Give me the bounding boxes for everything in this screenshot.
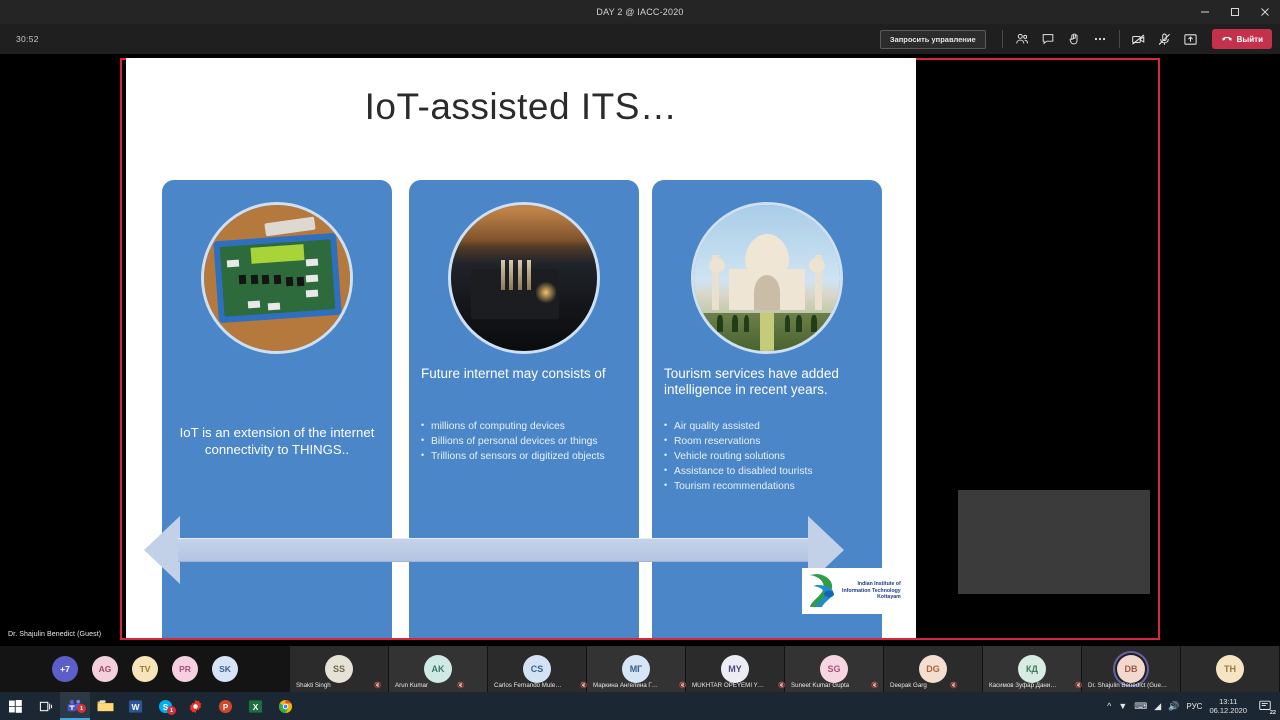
svg-text:P: P	[222, 702, 228, 711]
system-tray: ^ ▼ ⌨ ◢ 🔊 РУС 13:11 06.12.2020 22	[1107, 695, 1280, 717]
institute-logo-line3: Kottayam	[842, 594, 901, 601]
meeting-stage: Dr. Shajulin Benedict (Guest) IoT-assist…	[0, 54, 1280, 646]
institute-logo-line2: Information Technology	[842, 588, 901, 595]
avatar: SG	[820, 655, 848, 683]
window-titlebar: DAY 2 @ IACC-2020	[0, 0, 1280, 24]
leave-call-button[interactable]: Выйти	[1212, 29, 1272, 49]
presenter-name-label: Dr. Shajulin Benedict (Guest)	[8, 631, 101, 638]
screen-root: DAY 2 @ IACC-2020 30:52 Запросить управл…	[0, 0, 1280, 720]
avatar[interactable]: SK	[212, 656, 238, 682]
close-icon[interactable]	[1250, 0, 1280, 24]
taskbar-skype[interactable]: S 1	[150, 692, 180, 720]
bullet-item: Vehicle routing solutions	[664, 450, 874, 464]
participant-name: MUKHTAR OPEYEMI Y…	[692, 682, 764, 689]
skype-badge: 1	[167, 706, 176, 715]
mic-off-icon: 🔇	[457, 682, 464, 689]
taskbar-excel[interactable]: X	[240, 692, 270, 720]
taskbar-teams[interactable]: 1	[60, 692, 90, 720]
keyboard-icon[interactable]: ⌨	[1134, 701, 1147, 712]
bullet-item: millions of computing devices	[421, 420, 631, 434]
participant-name: Carlos Fernando Mule…	[494, 682, 561, 689]
task-view-button[interactable]	[30, 692, 60, 720]
webcam-overlay[interactable]	[958, 490, 1150, 594]
participants-filmstrip: +7 AG TV PR SK SS Shakti Singh 🔇 AK Arun…	[0, 646, 1280, 692]
participant-name: Suneet Kumar Gupta	[791, 682, 849, 689]
slide-title: IoT-assisted ITS…	[126, 86, 916, 128]
maximize-icon[interactable]	[1220, 0, 1250, 24]
arrow-bar	[178, 538, 810, 562]
clock-date: 06.12.2020	[1209, 706, 1247, 715]
participant-tile[interactable]: AK Arun Kumar 🔇	[389, 646, 488, 692]
bullet-item: Billions of personal devices or things	[421, 435, 631, 449]
avatar: МГ	[622, 655, 650, 683]
request-control-button[interactable]: Запросить управление	[880, 30, 986, 49]
participant-tile[interactable]: КД Касимов Зуфар Дани… 🔇	[983, 646, 1082, 692]
window-controls	[1190, 0, 1280, 24]
participant-tile[interactable]: SS Shakti Singh 🔇	[290, 646, 389, 692]
participant-tile[interactable]: SG Suneet Kumar Gupta 🔇	[785, 646, 884, 692]
meeting-toolbar: 30:52 Запросить управление	[0, 24, 1280, 54]
avatar: DG	[919, 655, 947, 683]
avatar[interactable]: +7	[52, 656, 78, 682]
participant-tile[interactable]: TH	[1181, 646, 1280, 692]
avatar: AK	[424, 655, 452, 683]
circuit-board-photo	[201, 202, 353, 354]
chat-icon[interactable]	[1035, 28, 1061, 50]
participant-name: Arun Kumar	[395, 682, 428, 689]
svg-text:X: X	[252, 702, 258, 712]
participant-tile[interactable]: MY MUKHTAR OPEYEMI Y… 🔇	[686, 646, 785, 692]
bullet-item: Room reservations	[664, 435, 874, 449]
language-indicator[interactable]: РУС	[1186, 702, 1202, 711]
avatar[interactable]: PR	[172, 656, 198, 682]
notification-count: 22	[1270, 710, 1276, 716]
slide-panel-3-bullets: Air quality assisted Room reservations V…	[664, 420, 874, 495]
camera-off-icon[interactable]	[1126, 28, 1152, 50]
action-center-icon[interactable]: 22	[1254, 695, 1276, 717]
toolbar-divider-2	[1119, 30, 1120, 48]
slide-panel-3-heading: Tourism services have added intelligence…	[664, 366, 872, 399]
people-icon[interactable]	[1009, 28, 1035, 50]
avatar: TH	[1216, 655, 1244, 683]
clock-time: 13:11	[1209, 697, 1247, 706]
taskbar-settings[interactable]	[180, 692, 210, 720]
avatar: DB	[1117, 655, 1145, 683]
avatar: SS	[325, 655, 353, 683]
share-screen-icon[interactable]	[1178, 28, 1204, 50]
show-hidden-icons-icon[interactable]: ^	[1107, 701, 1111, 711]
mic-off-icon: 🔇	[374, 682, 381, 689]
bullet-item: Assistance to disabled tourists	[664, 465, 874, 479]
clock[interactable]: 13:11 06.12.2020	[1209, 697, 1247, 716]
participant-name: Deepak Garg	[890, 682, 927, 689]
avatar: MY	[721, 655, 749, 683]
presentation-slide[interactable]: IoT-assisted ITS…	[126, 58, 916, 638]
double-arrow-graphic	[144, 516, 844, 584]
start-button[interactable]	[0, 692, 30, 720]
toolbar-divider-1	[1002, 30, 1003, 48]
avatar[interactable]: TV	[132, 656, 158, 682]
taskbar-file-explorer[interactable]	[90, 692, 120, 720]
participant-name: Касимов Зуфар Дани…	[989, 682, 1056, 689]
svg-text:W: W	[131, 702, 139, 712]
participant-tile[interactable]: CS Carlos Fernando Mule… 🔇	[488, 646, 587, 692]
participant-tile[interactable]: МГ Маркина Ангелина Г… 🔇	[587, 646, 686, 692]
bullet-item: Trillions of sensors or digitized object…	[421, 450, 631, 464]
raise-hand-icon[interactable]	[1061, 28, 1087, 50]
mic-off-icon: 🔇	[950, 682, 957, 689]
taskbar-word[interactable]: W	[120, 692, 150, 720]
overflow-avatar-group[interactable]: +7 AG TV PR SK	[0, 646, 290, 692]
institute-logo-text: Indian Institute of Information Technolo…	[842, 581, 901, 601]
mic-off-icon: 🔇	[871, 682, 878, 689]
slide-panel-1-text: IoT is an extension of the internet conn…	[176, 424, 378, 458]
more-options-icon[interactable]	[1087, 28, 1113, 50]
avatar: CS	[523, 655, 551, 683]
bullet-item: Air quality assisted	[664, 420, 874, 434]
slide-panel-2-bullets: millions of computing devices Billions o…	[421, 420, 631, 465]
volume-icon[interactable]: 🔊	[1168, 701, 1179, 712]
taskbar-chrome[interactable]	[270, 692, 300, 720]
iiit-logo-icon	[805, 572, 839, 610]
participant-name: Маркина Ангелина Г…	[593, 682, 658, 689]
toolbar-right-group: Запросить управление	[880, 24, 1280, 54]
wifi-icon[interactable]: ◢	[1154, 701, 1161, 712]
participant-tile[interactable]: DG Deepak Garg 🔇	[884, 646, 983, 692]
leave-call-label: Выйти	[1237, 35, 1263, 44]
arrow-head-left-icon	[144, 516, 180, 584]
teams-badge: 1	[77, 704, 86, 713]
institute-logo-line1: Indian Institute of	[842, 581, 901, 588]
taj-mahal-photo	[691, 202, 843, 354]
participant-tile-active-speaker[interactable]: DB Dr. Shajulin Benedict (Gue…	[1082, 646, 1181, 692]
participant-name: Shakti Singh	[296, 682, 331, 689]
participant-name: Dr. Shajulin Benedict (Gue…	[1088, 682, 1167, 689]
avatar[interactable]: AG	[92, 656, 118, 682]
avatar: КД	[1018, 655, 1046, 683]
onedrive-icon[interactable]: ▼	[1118, 701, 1127, 711]
windows-taskbar: 1 W S 1	[0, 692, 1280, 720]
meeting-timer: 30:52	[16, 34, 39, 44]
minimize-icon[interactable]	[1190, 0, 1220, 24]
window-title: DAY 2 @ IACC-2020	[596, 7, 683, 17]
taskbar-powerpoint[interactable]: P	[210, 692, 240, 720]
slide-panel-2-heading: Future internet may consists of	[421, 366, 629, 382]
server-connectors-photo	[448, 202, 600, 354]
mic-off-icon[interactable]	[1152, 28, 1178, 50]
institute-logo: Indian Institute of Information Technolo…	[802, 568, 910, 614]
bullet-item: Tourism recommendations	[664, 480, 874, 494]
